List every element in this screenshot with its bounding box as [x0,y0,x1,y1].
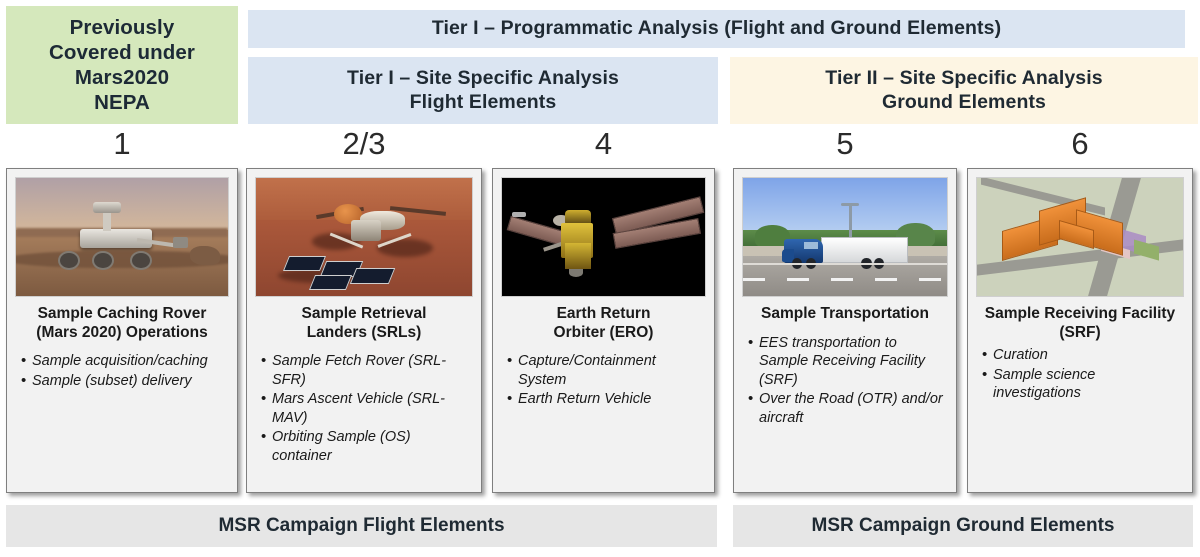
list-item: Orbiting Sample (OS) container [261,428,471,465]
footer-msr-campaign-ground-elements: MSR Campaign Ground Elements [733,505,1193,547]
banner-tier1-programmatic-analysis: Tier I – Programmatic Analysis (Flight a… [248,10,1185,48]
list-item: Sample acquisition/caching [21,352,227,371]
card-title-line-1: Sample Caching Rover [13,305,231,324]
card-title-line-2: Orbiter (ERO) [499,324,708,343]
element-number-2-3: 2/3 [246,124,482,164]
card-title-sample-caching-rover: Sample Caching Rover (Mars 2020) Operati… [7,297,237,342]
earth-return-orbiter-in-space-photo [501,177,706,297]
card-sample-retrieval-landers[interactable]: Sample Retrieval Landers (SRLs) Sample F… [246,168,482,493]
list-item: Sample science investigations [982,366,1182,403]
list-item: Earth Return Vehicle [507,390,704,409]
banner-tier1-site-line-2: Flight Elements [347,91,619,115]
card-title-line-1: Sample Transportation [740,305,950,324]
element-number-row: 1 2/3 4 5 6 [0,124,1200,164]
banner-line-3: Mars2020 [49,65,195,90]
card-title-line-1: Earth Return [499,305,708,324]
list-item: Curation [982,346,1182,365]
element-number-6: 6 [967,124,1193,164]
card-sample-receiving-facility[interactable]: Sample Receiving Facility (SRF) Curation… [967,168,1193,493]
card-bullets-earth-return-orbiter: Capture/Containment System Earth Return … [493,352,714,410]
list-item: Mars Ascent Vehicle (SRL-MAV) [261,390,471,427]
list-item: Sample Fetch Rover (SRL-SFR) [261,352,471,389]
sample-receiving-facility-3d-render [976,177,1184,297]
card-sample-transportation[interactable]: Sample Transportation EES transportation… [733,168,957,493]
banner-tier2-site-specific-ground: Tier II – Site Specific Analysis Ground … [730,57,1198,124]
card-title-line-2: (Mars 2020) Operations [13,324,231,343]
banner-line-1: Previously [49,15,195,40]
card-bullets-sample-receiving-facility: Curation Sample science investigations [968,346,1192,404]
card-title-line-1: Sample Receiving Facility [974,305,1186,324]
card-title-line-2: Landers (SRLs) [253,324,475,343]
footer-msr-campaign-flight-elements: MSR Campaign Flight Elements [6,505,717,547]
banner-line-4: NEPA [49,90,195,115]
card-title-sample-receiving-facility: Sample Receiving Facility (SRF) [968,297,1192,342]
card-bullets-sample-transportation: EES transportation to Sample Receiving F… [734,334,956,429]
card-title-line-1: Sample Retrieval [253,305,475,324]
banner-tier2-site-line-2: Ground Elements [825,91,1102,115]
list-item: Capture/Containment System [507,352,704,389]
card-title-sample-transportation: Sample Transportation [734,297,956,324]
element-number-5: 5 [733,124,957,164]
card-title-line-2: (SRF) [974,324,1186,343]
semi-truck-on-highway-photo [742,177,948,297]
banner-line-2: Covered under [49,40,195,65]
banner-tier1-site-specific-flight: Tier I – Site Specific Analysis Flight E… [248,57,718,124]
card-title-sample-retrieval-landers: Sample Retrieval Landers (SRLs) [247,297,481,342]
list-item: EES transportation to Sample Receiving F… [748,334,946,390]
card-bullets-sample-retrieval-landers: Sample Fetch Rover (SRL-SFR) Mars Ascent… [247,352,481,466]
footer-flight-label: MSR Campaign Flight Elements [218,515,504,537]
list-item: Over the Road (OTR) and/or aircraft [748,390,946,427]
element-number-4: 4 [492,124,715,164]
element-number-1: 1 [6,124,238,164]
card-title-earth-return-orbiter: Earth Return Orbiter (ERO) [493,297,714,342]
msr-campaign-nepa-tier-diagram: Previously Covered under Mars2020 NEPA T… [0,0,1200,557]
card-sample-caching-rover[interactable]: Sample Caching Rover (Mars 2020) Operati… [6,168,238,493]
sample-retrieval-lander-on-mars-photo [255,177,473,297]
banner-previously-covered-mars2020-nepa: Previously Covered under Mars2020 NEPA [6,6,238,124]
banner-tier1-site-line-1: Tier I – Site Specific Analysis [347,67,619,91]
footer-ground-label: MSR Campaign Ground Elements [812,515,1115,537]
card-earth-return-orbiter[interactable]: Earth Return Orbiter (ERO) Capture/Conta… [492,168,715,493]
list-item: Sample (subset) delivery [21,372,227,391]
banner-tier2-site-line-1: Tier II – Site Specific Analysis [825,67,1102,91]
card-bullets-sample-caching-rover: Sample acquisition/caching Sample (subse… [7,352,237,391]
banner-tier1-programmatic-label: Tier I – Programmatic Analysis (Flight a… [432,17,1001,41]
perseverance-rover-on-mars-photo [15,177,229,297]
